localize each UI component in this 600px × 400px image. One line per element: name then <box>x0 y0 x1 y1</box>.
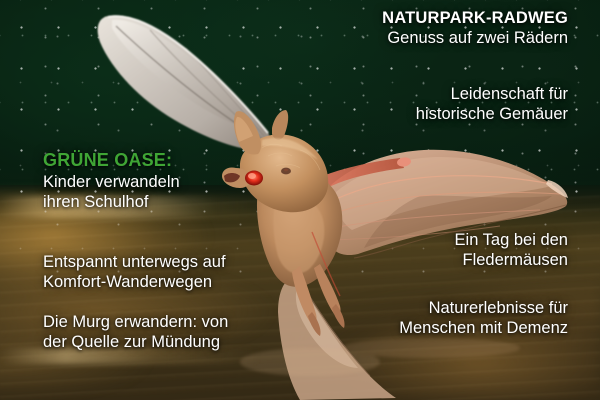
teaser-fledermaeuse-line1: Ein Tag bei den <box>455 230 568 250</box>
teaser-entspannt-line2: Komfort-Wanderwegen <box>43 272 226 292</box>
teaser-murg-line2: der Quelle zur Mündung <box>43 332 228 352</box>
teaser-entspannt-unterwegs: Entspannt unterwegs auf Komfort-Wanderwe… <box>43 252 226 292</box>
teaser-demenz: Naturerlebnisse für Menschen mit Demenz <box>399 298 568 338</box>
teaser-gruene-oase: GRÜNE OASE: Kinder verwandeln ihren Schu… <box>43 150 180 212</box>
teaser-leidenschaft-line1: Leidenschaft für <box>416 84 568 104</box>
teaser-gruene-oase-line2: ihren Schulhof <box>43 192 180 212</box>
teaser-demenz-line2: Menschen mit Demenz <box>399 318 568 338</box>
teaser-murg-line1: Die Murg erwandern: von <box>43 312 228 332</box>
cover-image: NATURPARK-RADWEG Genuss auf zwei Rädern … <box>0 0 600 400</box>
teaser-leidenschaft: Leidenschaft für historische Gemäuer <box>416 84 568 124</box>
teaser-entspannt-line1: Entspannt unterwegs auf <box>43 252 226 272</box>
teaser-gruene-oase-headline: GRÜNE OASE: <box>43 150 180 172</box>
teaser-gruene-oase-line1: Kinder verwandeln <box>43 172 180 192</box>
teaser-murg: Die Murg erwandern: von der Quelle zur M… <box>43 312 228 352</box>
teaser-naturpark-radweg: NATURPARK-RADWEG Genuss auf zwei Rädern <box>382 8 568 48</box>
teaser-naturpark-subline: Genuss auf zwei Rädern <box>382 28 568 48</box>
teaser-leidenschaft-line2: historische Gemäuer <box>416 104 568 124</box>
teaser-fledermaeuse-line2: Fledermäusen <box>455 250 568 270</box>
teaser-naturpark-headline: NATURPARK-RADWEG <box>382 8 568 28</box>
teaser-demenz-line1: Naturerlebnisse für <box>399 298 568 318</box>
teaser-fledermaeuse: Ein Tag bei den Fledermäusen <box>455 230 568 270</box>
